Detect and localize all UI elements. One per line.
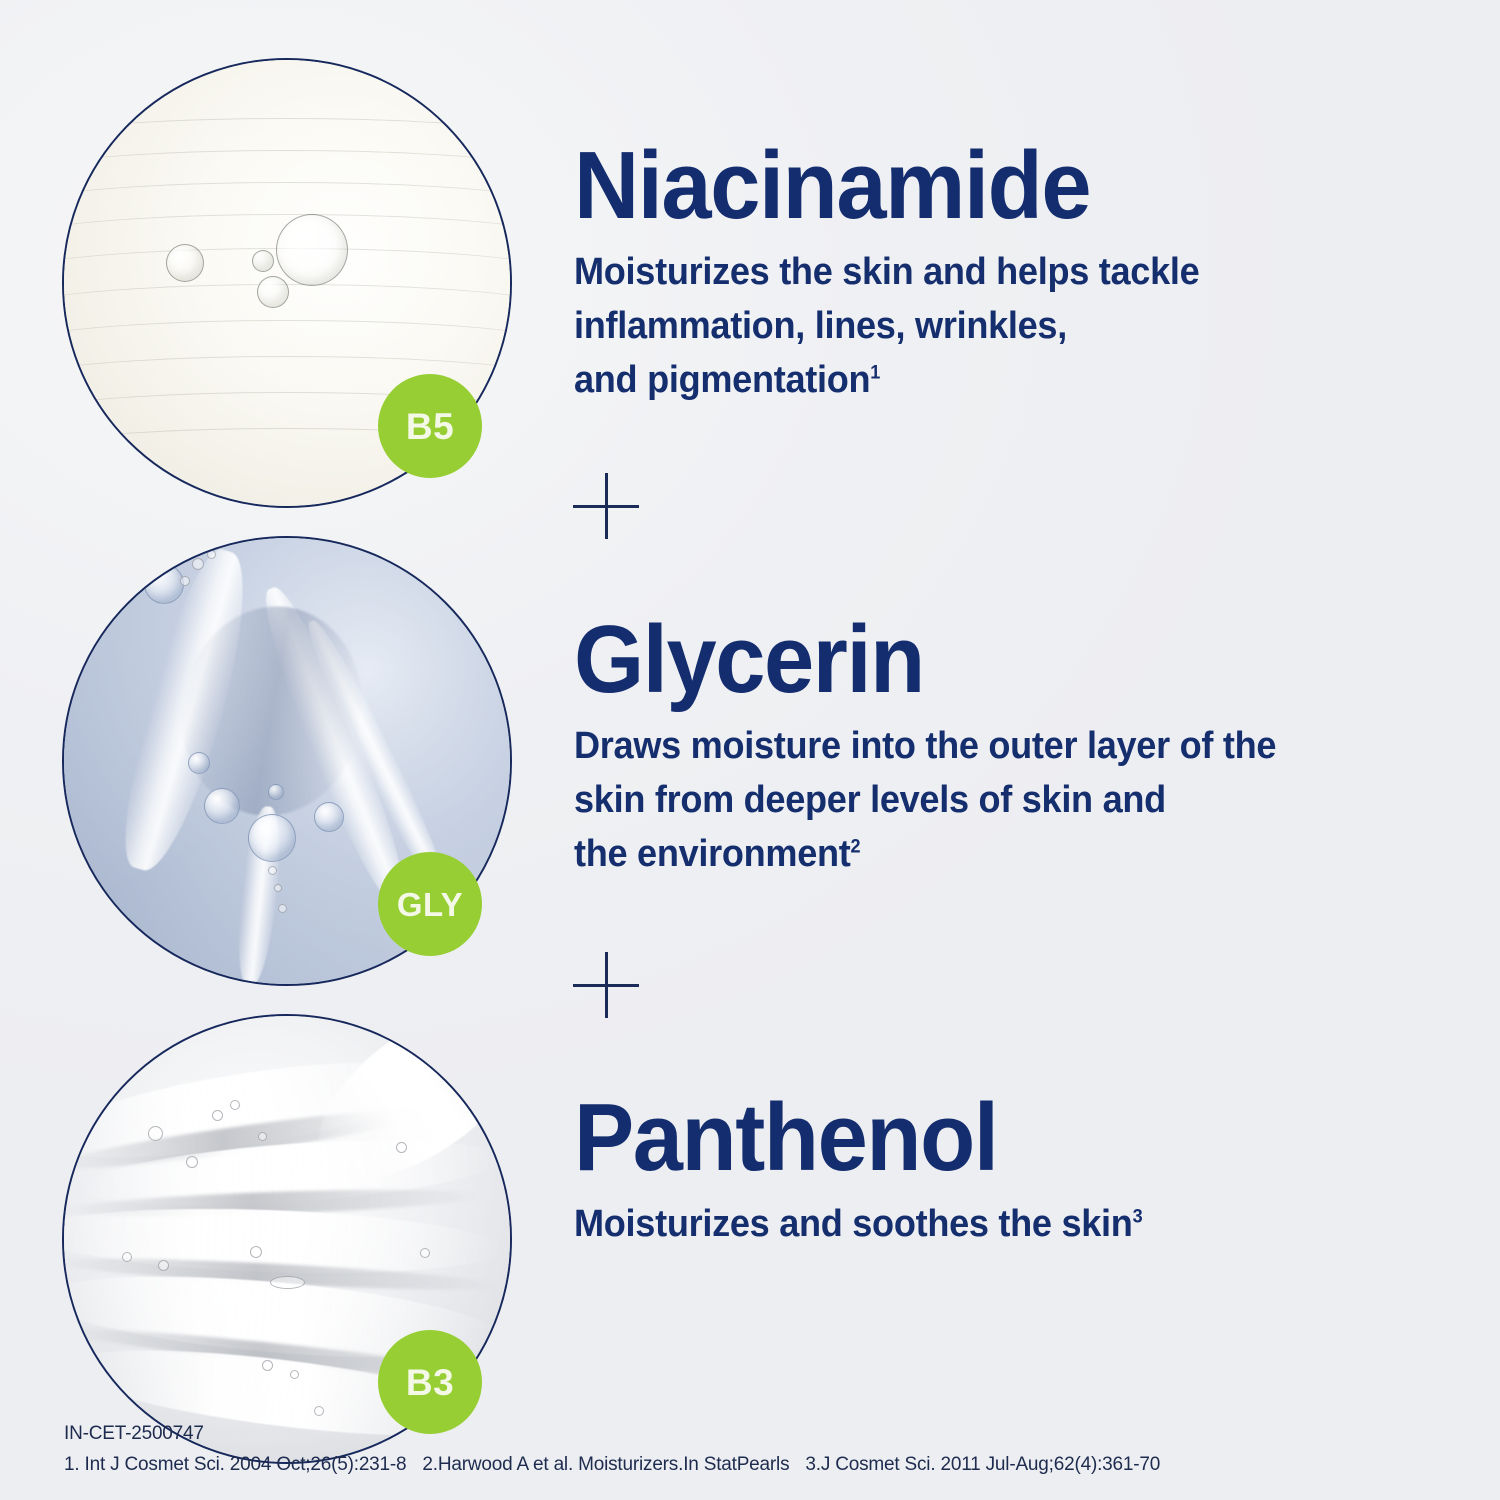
badge-label: B3 [406, 1364, 454, 1401]
footer-reference-2: 2.Harwood A et al. Moisturizers.In StatP… [422, 1454, 789, 1475]
badge-b5: B5 [378, 374, 482, 478]
footer-legal: IN-CET-2500747 1. Int J Cosmet Sci. 2004… [64, 1419, 1176, 1480]
ingredient-image-niacinamide: B5 [62, 58, 512, 508]
ingredient-text-glycerin: Glycerin Draws moisture into the outer l… [574, 614, 1434, 882]
plus-separator-icon-2 [573, 952, 639, 1018]
ingredient-description-niacinamide: Moisturizes the skin and helps tackleinf… [574, 246, 1363, 408]
ingredient-infographic: B5 Niacinamide Moisturizes the skin and … [0, 0, 1500, 1500]
ingredient-title-niacinamide: Niacinamide [574, 140, 1354, 232]
badge-label: GLY [397, 888, 463, 921]
ingredient-description-glycerin: Draws moisture into the outer layer of t… [574, 720, 1391, 882]
footer-references: 1. Int J Cosmet Sci. 2004 Oct;26(5):231-… [64, 1450, 1176, 1480]
ingredient-text-panthenol: Panthenol Moisturizes and soothes the sk… [574, 1092, 1434, 1252]
footnote-marker-2: 2 [851, 836, 861, 857]
badge-label: B5 [406, 408, 454, 445]
plus-separator-icon-1 [573, 473, 639, 539]
footer-reference-1: 1. Int J Cosmet Sci. 2004 Oct;26(5):231-… [64, 1454, 406, 1475]
footer-reference-3: 3.J Cosmet Sci. 2011 Jul-Aug;62(4):361-7… [805, 1454, 1160, 1475]
ingredient-image-panthenol: B3 [62, 1014, 512, 1464]
ingredient-text-niacinamide: Niacinamide Moisturizes the skin and hel… [574, 140, 1404, 408]
ingredient-title-panthenol: Panthenol [574, 1092, 1382, 1184]
ingredient-description-panthenol: Moisturizes and soothes the skin3 [574, 1198, 1391, 1252]
badge-gly: GLY [378, 852, 482, 956]
ingredient-title-glycerin: Glycerin [574, 614, 1382, 706]
footnote-marker-3: 3 [1133, 1207, 1143, 1228]
footer-code: IN-CET-2500747 [64, 1419, 1176, 1449]
ingredient-image-glycerin: GLY [62, 536, 512, 986]
footnote-marker-1: 1 [870, 362, 880, 383]
